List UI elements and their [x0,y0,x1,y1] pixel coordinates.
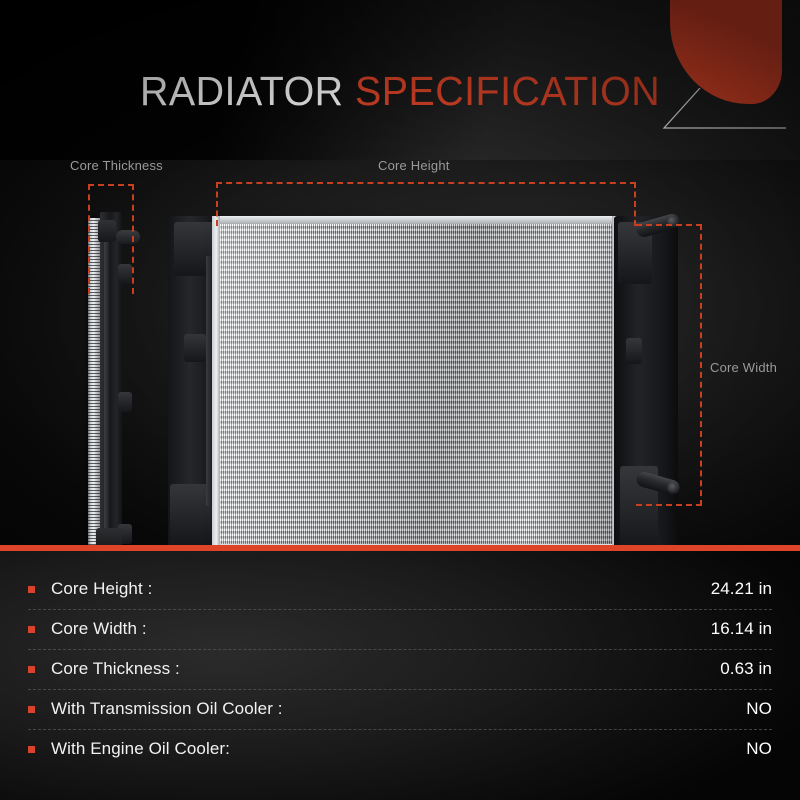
spec-row-core-height: Core Height : 24.21 in [28,569,772,609]
core-width-bracket-top [636,224,702,226]
spec-row-core-width: Core Width : 16.14 in [28,609,772,649]
core-height-bracket-left [216,182,218,226]
side-cap [98,220,116,242]
radiator-front-view [168,208,678,545]
bullet-square-icon [28,666,35,673]
side-mount-tab [118,264,132,284]
core-width-bracket-bottom [636,504,702,506]
spec-row-core-thickness: Core Thickness : 0.63 in [28,649,772,689]
core-height-bracket-top [216,182,636,184]
spec-value: 0.63 in [720,659,772,679]
spec-label: Core Height : [51,579,711,599]
spec-label: Core Thickness : [51,659,720,679]
bullet-square-icon [28,746,35,753]
core-thickness-bracket-left [88,184,90,294]
title-word-primary: RADIATOR [140,68,344,114]
bullet-square-icon [28,706,35,713]
core-height-bracket-right [634,182,636,226]
side-mount-tab [118,392,132,412]
product-diagram: Core Thickness Core Height Core Width [0,150,800,545]
header-panel: RADIATOR SPECIFICATION [0,0,800,545]
spec-row-engine-oil-cooler: With Engine Oil Cooler: NO [28,729,772,769]
bullet-square-icon [28,586,35,593]
specification-table: Core Height : 24.21 in Core Width : 16.1… [0,551,800,800]
right-end-tank [614,216,678,545]
spec-label: With Transmission Oil Cooler : [51,699,746,719]
core-thickness-bracket-top [88,184,134,186]
right-bracket-mid [626,338,642,364]
spec-value: NO [746,699,772,719]
bullet-square-icon [28,626,35,633]
radiator-specification-page: RADIATOR SPECIFICATION [0,0,800,800]
page-title: RADIATOR SPECIFICATION [140,68,660,115]
side-hose-neck [116,230,140,244]
spec-value: 24.21 in [711,579,772,599]
title-word-accent: SPECIFICATION [355,68,660,114]
spec-value: 16.14 in [711,619,772,639]
core-edge-top [214,216,618,224]
radiator-core [218,222,614,545]
spec-value: NO [746,739,772,759]
ribbon-decoration [670,0,782,104]
left-bracket-mid [184,334,206,362]
side-foot-bracket [96,528,122,545]
spec-label: With Engine Oil Cooler: [51,739,746,759]
core-thickness-label: Core Thickness [70,158,163,173]
core-thickness-bracket-right [132,184,134,294]
core-edge-left [212,216,220,545]
core-height-label: Core Height [378,158,450,173]
spec-label: Core Width : [51,619,711,639]
radiator-side-view [88,212,134,545]
core-width-label: Core Width [710,360,777,375]
spec-row-transmission-oil-cooler: With Transmission Oil Cooler : NO [28,689,772,729]
core-width-bracket-right [700,224,702,506]
side-rail [104,240,109,540]
core-gloss [218,222,614,545]
